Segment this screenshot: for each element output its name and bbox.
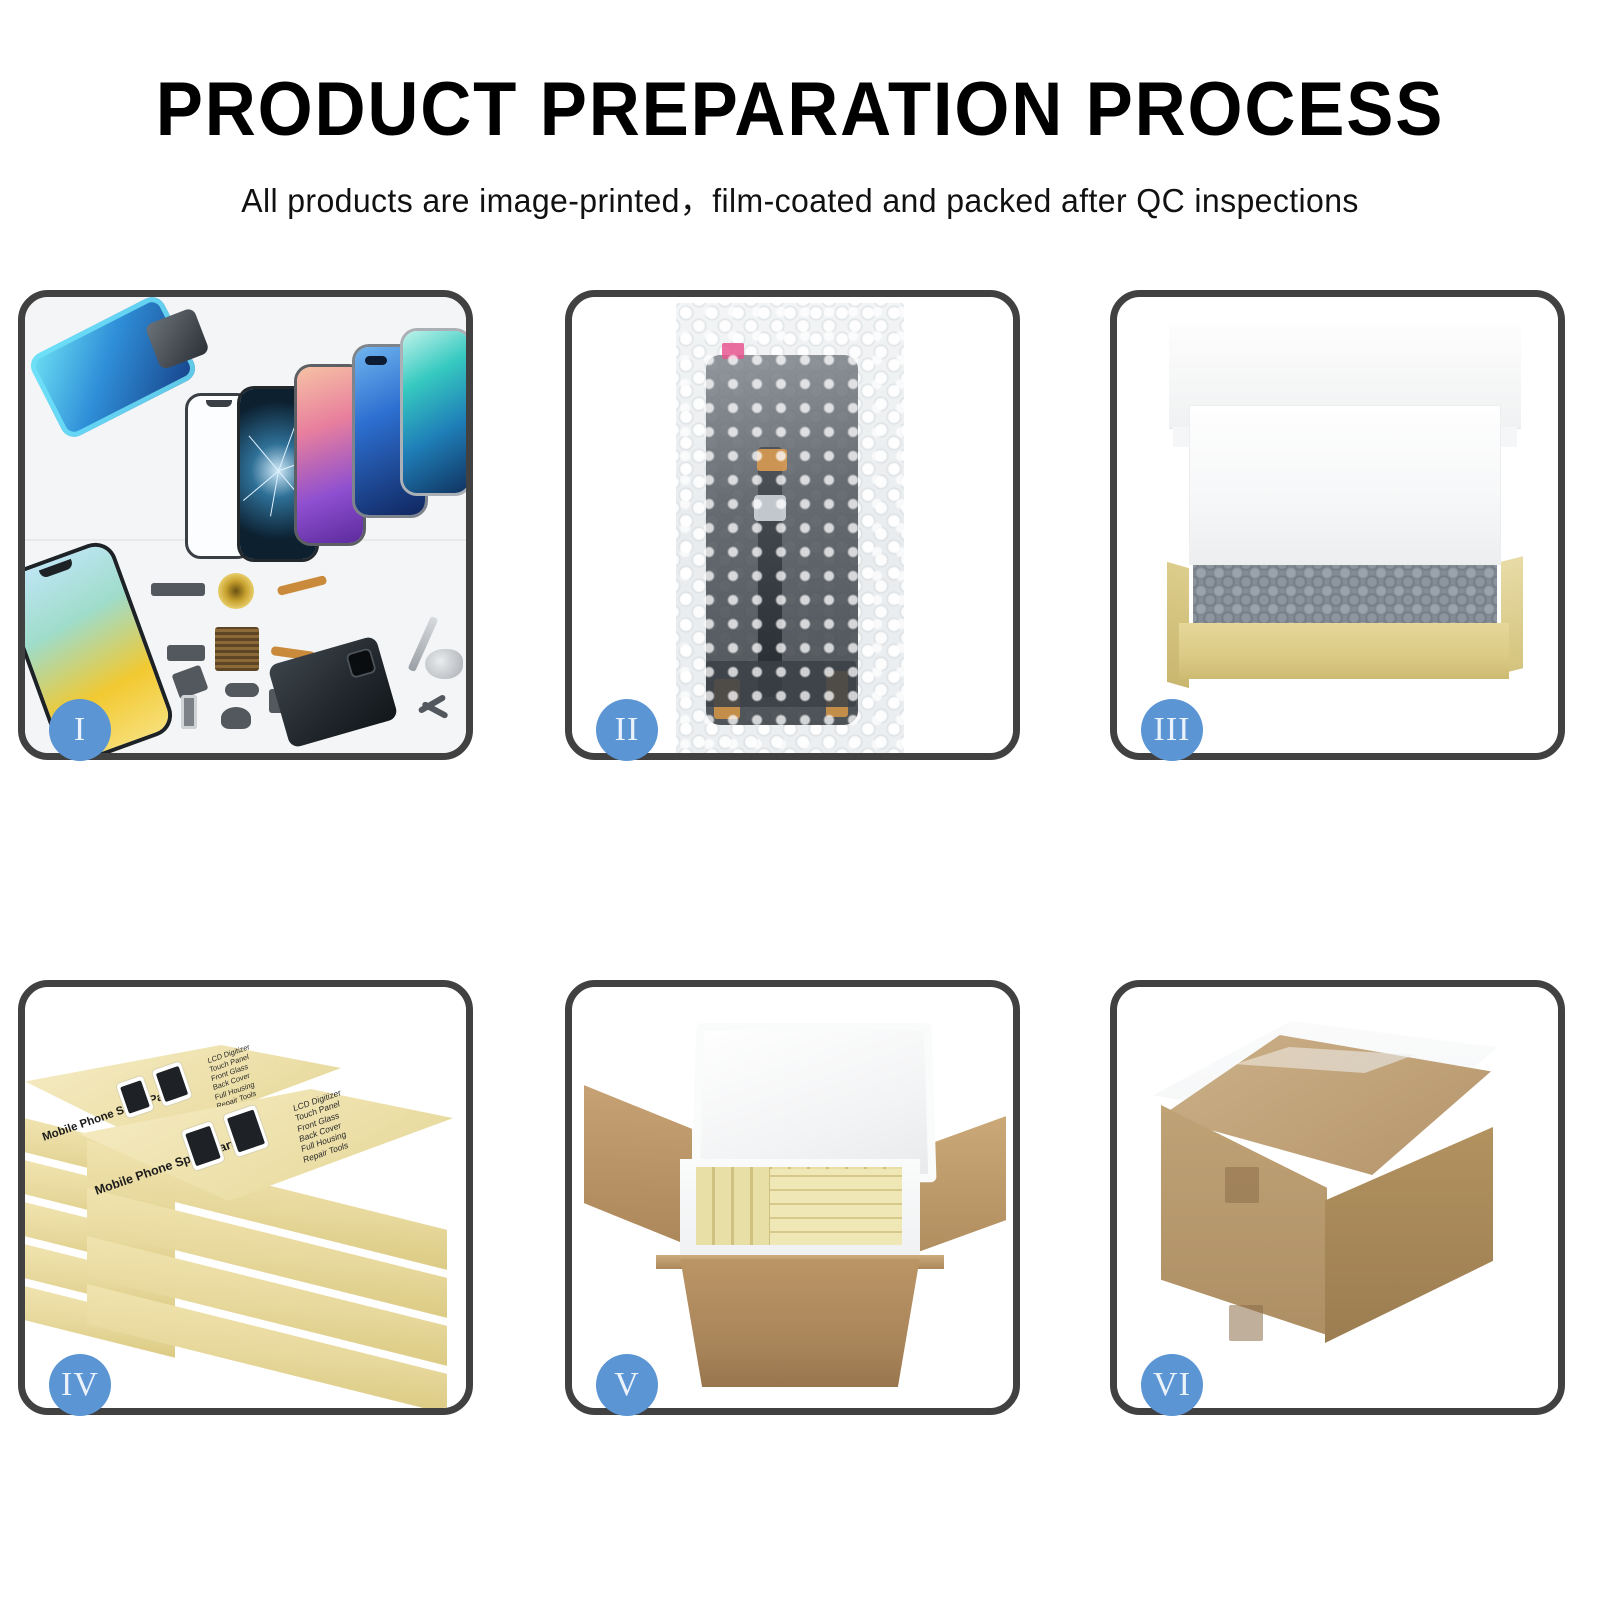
sim-tray-part — [181, 695, 197, 729]
bubble-wrap-scene — [572, 297, 1013, 753]
orange-kapton-tape — [757, 449, 787, 471]
panel-4-image: Mobile Phone Spare Parts LCD Digitizer T… — [25, 987, 466, 1408]
earpiece-mesh-part — [151, 583, 205, 596]
white-foam-sheet — [1189, 405, 1501, 565]
step-badge-4: IV — [49, 1354, 111, 1416]
panel-5-image — [572, 987, 1013, 1408]
vibration-motor-part — [225, 683, 259, 697]
process-step-panel-5[interactable]: V — [565, 980, 1020, 1415]
flex-connector — [754, 495, 786, 521]
page-header: PRODUCT PREPARATION PROCESS All products… — [0, 0, 1600, 222]
yellow-box-front-panel — [1179, 623, 1509, 679]
step-badge-3: III — [1141, 699, 1203, 761]
purple-gradient-phone — [297, 367, 363, 543]
connector-part — [167, 645, 205, 661]
spare-parts-scene — [25, 297, 466, 753]
pink-protective-tab — [722, 343, 744, 359]
carton-body — [664, 1259, 936, 1387]
carton-flap-left — [584, 1085, 692, 1247]
panel-6-image — [1117, 987, 1558, 1408]
crack-line — [249, 435, 279, 471]
page-subtitle: All products are image-printed，film-coat… — [24, 174, 1576, 222]
process-step-panel-3[interactable]: III — [1110, 290, 1565, 760]
foam-carton-scene — [572, 987, 1013, 1408]
step-badge-6: VI — [1141, 1354, 1203, 1416]
panel-3-image — [1117, 297, 1558, 753]
box-stack-scene: Mobile Phone Spare Parts LCD Digitizer T… — [25, 987, 466, 1408]
bottom-component-cluster — [706, 661, 856, 707]
wireless-charging-coil — [218, 573, 254, 609]
step-badge-5: V — [596, 1354, 658, 1416]
sealed-carton-scene — [1117, 987, 1558, 1408]
carton-tape-patch — [1225, 1167, 1259, 1203]
process-step-panel-6[interactable]: VI — [1110, 980, 1565, 1415]
carton-tape-patch — [1229, 1305, 1263, 1341]
step-badge-1: I — [49, 699, 111, 761]
process-step-panel-2[interactable]: II — [565, 290, 1020, 760]
gray-bubble-wrapped-contents — [1193, 565, 1497, 623]
display-flex-cable — [758, 447, 782, 697]
process-step-panel-1[interactable]: I — [18, 290, 473, 760]
speaker-part — [221, 707, 251, 729]
step-badge-2: II — [596, 699, 658, 761]
panel-1-image — [25, 297, 466, 753]
cleaning-brush-tool — [425, 649, 463, 679]
gold-boxes-in-foam — [770, 1169, 902, 1245]
ic-chip-part — [215, 627, 259, 671]
panel-2-image — [572, 297, 1013, 753]
bubble-wrap-sleeve — [676, 303, 904, 753]
process-step-panel-4[interactable]: Mobile Phone Spare Parts LCD Digitizer T… — [18, 980, 473, 1415]
inner-box-scene — [1117, 297, 1558, 753]
flex-cable-part — [277, 575, 328, 596]
page-title: PRODUCT PREPARATION PROCESS — [56, 72, 1544, 148]
blue-adhesive-frame — [26, 297, 200, 442]
teal-gradient-phone — [403, 331, 466, 493]
process-steps-grid: I II — [0, 290, 1600, 1490]
